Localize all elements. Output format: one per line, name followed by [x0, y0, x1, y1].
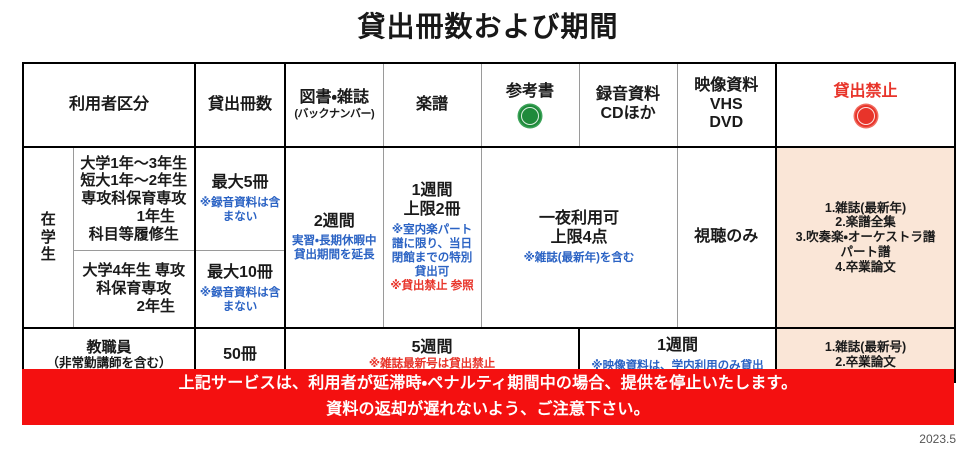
student-forbidden-cell: 1.雑誌(最新年) 2.楽譜全集 3.吹奏楽・オーケストラ譜 パート譜 4.卒業…	[776, 147, 955, 328]
student-2-loan-count: 最大10冊	[199, 264, 281, 283]
student-books-note: 実習・長期休暇中貸出期間を延長	[289, 234, 380, 262]
header-reference-label: 参考書	[485, 83, 576, 102]
lending-table: 利用者区分 貸出冊数 図書・雑誌 (バックナンバー) 楽譜 参考書 録音資料 C…	[22, 62, 956, 383]
student-music-period: 1週間	[387, 182, 478, 201]
table-header-row: 利用者区分 貸出冊数 図書・雑誌 (バックナンバー) 楽譜 参考書 録音資料 C…	[23, 63, 955, 147]
student-reference-audio-note: ※雑誌(最新年)を含む	[485, 251, 674, 265]
student-2-category: 大学4年生 専攻科保育専攻 2年生	[73, 251, 195, 329]
faculty-forbidden-item-1: 2.卒業論文	[780, 355, 951, 370]
student-reference-audio-cell: 一夜利用可 上限4点 ※雑誌(最新年)を含む	[481, 147, 677, 328]
student-forbidden-item-2: 3.吹奏楽・オーケストラ譜	[780, 230, 951, 245]
header-audio-sub: CDほか	[583, 105, 674, 124]
page-title: 貸出冊数および期間	[0, 8, 976, 46]
student-forbidden-item-0: 1.雑誌(最新年)	[780, 201, 951, 216]
student-group-char-3: 生	[27, 246, 70, 264]
student-music-note-blue: ※室内楽パート譜に限り、当日閉館までの特別貸出可	[387, 223, 478, 279]
header-forbidden-label: 貸出禁止	[780, 83, 951, 102]
header-forbidden: 貸出禁止	[776, 63, 955, 147]
student-1-category-line-2: 専攻科保育専攻	[81, 190, 186, 207]
header-video-sub1: VHS	[681, 96, 773, 115]
student-forbidden-item-4: 4.卒業論文	[780, 260, 951, 275]
student-reference-audio-line2: 上限4点	[485, 229, 674, 248]
header-reference: 参考書	[481, 63, 579, 147]
faculty-forbidden-item-0: 1.雑誌(最新号)	[780, 340, 951, 355]
student-1-loan-note: ※録音資料は含まない	[199, 196, 281, 224]
header-loan-count: 貸出冊数	[195, 63, 285, 147]
student-1-loan-count-cell: 最大5冊 ※録音資料は含まない	[195, 147, 285, 251]
header-sheet-music: 楽譜	[383, 63, 481, 147]
warning-banner-line-1: 上記サービスは、利用者が延滞時・ペナルティ期間中の場合、提供を停止いたします。	[179, 371, 798, 397]
faculty-av-period: 1週間	[583, 337, 772, 356]
header-books-magazines: 図書・雑誌 (バックナンバー)	[285, 63, 383, 147]
student-reference-audio-line1: 一夜利用可	[485, 210, 674, 229]
faculty-name: 教職員	[87, 339, 132, 356]
student-group-char-1: 在	[27, 211, 70, 229]
student-1-category-line-1: 短大1年～2年生	[80, 172, 187, 189]
table-row-student-1: 在 学 生 大学1年～3年生 短大1年～2年生 専攻科保育専攻 1年生 科目等履…	[23, 147, 955, 251]
student-forbidden-item-1: 2.楽譜全集	[780, 215, 951, 230]
faculty-books-period: 5週間	[289, 339, 575, 358]
student-1-category-line-0: 大学1年～3年生	[80, 155, 187, 172]
header-video-label: 映像資料	[681, 77, 773, 96]
student-books-period: 2週間	[289, 213, 380, 232]
red-stamp-icon	[855, 105, 877, 127]
green-stamp-icon	[519, 105, 541, 127]
header-audio-label: 録音資料	[583, 86, 674, 105]
header-video: 映像資料 VHS DVD	[677, 63, 776, 147]
faculty-loan-count: 50冊	[199, 346, 281, 365]
student-group-char-2: 学	[27, 229, 70, 247]
student-music-note-red: ※貸出禁止 参照	[387, 279, 478, 293]
header-books-magazines-main: 図書・雑誌	[289, 89, 380, 108]
warning-banner: 上記サービスは、利用者が延滞時・ペナルティ期間中の場合、提供を停止いたします。 …	[22, 369, 954, 425]
date-stamp: 2023.5	[919, 432, 956, 446]
student-1-category-indent: 1年生	[77, 208, 192, 226]
header-user-category: 利用者区分	[23, 63, 195, 147]
student-group-label: 在 学 生	[23, 147, 73, 328]
student-music-cell: 1週間 上限2冊 ※室内楽パート譜に限り、当日閉館までの特別貸出可 ※貸出禁止 …	[383, 147, 481, 328]
student-forbidden-item-3: パート譜	[780, 245, 951, 260]
header-video-sub2: DVD	[681, 114, 773, 133]
student-2-category-indent: 2年生	[77, 298, 192, 316]
student-music-limit: 上限2冊	[387, 201, 478, 220]
student-2-category-line-0: 大学4年生	[82, 262, 150, 279]
student-video-cell: 視聴のみ	[677, 147, 776, 328]
student-1-category-last: 科目等履修生	[89, 226, 179, 243]
student-2-loan-count-cell: 最大10冊 ※録音資料は含まない	[195, 251, 285, 329]
student-books-period-cell: 2週間 実習・長期休暇中貸出期間を延長	[285, 147, 383, 328]
lending-table-container: 利用者区分 貸出冊数 図書・雑誌 (バックナンバー) 楽譜 参考書 録音資料 C…	[22, 62, 954, 383]
header-audio: 録音資料 CDほか	[579, 63, 677, 147]
student-2-loan-note: ※録音資料は含まない	[199, 286, 281, 314]
lending-rules-page: 貸出冊数および期間 利用者区分 貸出冊数 図書・雑誌 (バックナンバー)	[0, 0, 976, 460]
student-video-text: 視聴のみ	[681, 228, 773, 247]
student-1-loan-count: 最大5冊	[199, 174, 281, 193]
header-books-magazines-sub: (バックナンバー)	[289, 108, 380, 121]
student-1-category: 大学1年～3年生 短大1年～2年生 専攻科保育専攻 1年生 科目等履修生	[73, 147, 195, 251]
warning-banner-line-2: 資料の返却が遅れないよう、ご注意下さい。	[326, 397, 650, 423]
